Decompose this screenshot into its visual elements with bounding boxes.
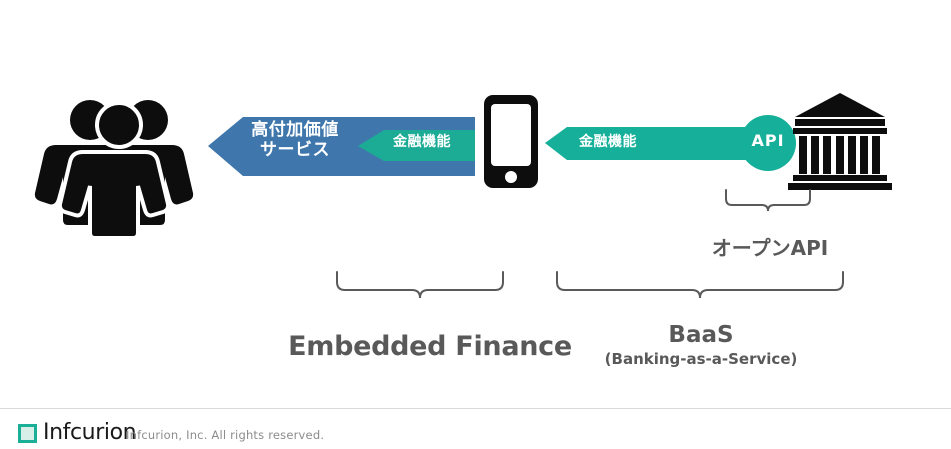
footer-divider [0,408,951,409]
baas-bracket [557,272,843,298]
financial-function-bank-label: 金融機能 [560,134,656,151]
smartphone-icon [484,95,538,188]
diagram-canvas: 高付加価値 サービス 金融機能 金融機能 API オープンAPI Embedde… [0,0,951,449]
embedded-finance-bracket [337,272,503,298]
open-api-caption: オープンAPI [660,232,880,261]
infcurion-square-logo-icon [18,424,37,443]
baas-sub-caption: (Banking-as-a-Service) [560,350,842,368]
diagram-artwork [0,0,951,449]
three-people-icon [35,100,193,238]
financial-function-inner-label: 金融機能 [372,134,472,151]
open-api-bracket [726,190,810,211]
api-badge-label: API [742,132,794,151]
bank-building-icon [788,93,892,190]
baas-caption: BaaS [570,322,832,348]
value-added-service-label: 高付加価値 サービス [236,120,354,160]
infcurion-wordmark: Infcurion [43,420,136,445]
copyright-text: Infcurion, Inc. All rights reserved. [126,428,324,442]
embedded-finance-caption: Embedded Finance [270,331,590,362]
